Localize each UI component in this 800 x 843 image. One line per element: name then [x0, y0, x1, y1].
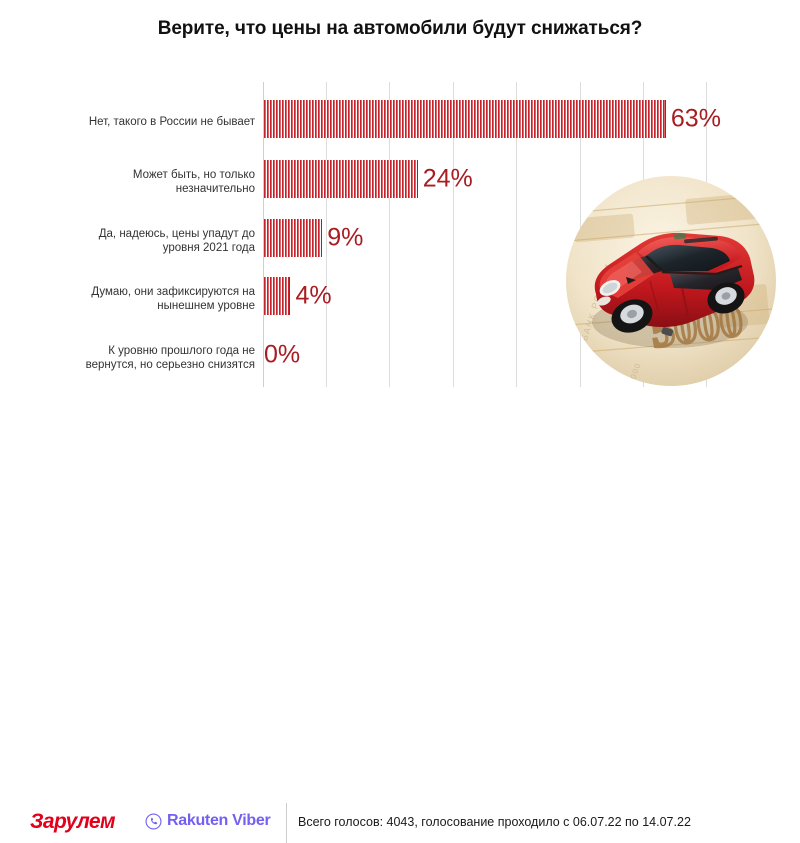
- za-rulem-logo[interactable]: Зарулем: [30, 810, 115, 834]
- rakuten-viber-logo[interactable]: Rakuten Viber: [145, 812, 270, 830]
- bar-value-0: 63%: [671, 105, 721, 134]
- category-label-0: Нет, такого в России не бывает: [5, 115, 255, 129]
- category-label-2-line2: уровня 2021 года: [5, 241, 255, 255]
- poll-meta-note: Всего голосов: 4043, голосование проходи…: [298, 815, 691, 829]
- footer: Зарулем Rakuten Viber Всего голосов: 404…: [0, 398, 800, 450]
- category-label-4-line2: вернутся, но серьезно снизятся: [5, 358, 255, 372]
- bar-value-4: 0%: [264, 341, 300, 370]
- bar-row-0: 63%: [264, 100, 784, 138]
- bar-value-3: 4%: [295, 282, 331, 311]
- bar-2: [264, 219, 322, 257]
- toy-car-on-banknotes-photo: 5000 БАНК РОССИИ 5000: [566, 176, 776, 386]
- category-label-4-line1: К уровню прошлого года не: [5, 344, 255, 358]
- poll-result-infographic: Верите, что цены на автомобили будут сни…: [0, 0, 800, 450]
- rakuten-viber-label: Rakuten Viber: [167, 812, 270, 830]
- viber-phone-icon: [145, 813, 162, 830]
- category-label-3-line2: нынешнем уровне: [5, 299, 255, 313]
- bar-1: [264, 160, 418, 198]
- bar-value-1: 24%: [423, 165, 473, 194]
- category-labels: Нет, такого в России не бывает Может быт…: [0, 82, 255, 387]
- category-label-2-line1: Да, надеюсь, цены упадут до: [5, 227, 255, 241]
- bar-3: [264, 277, 290, 315]
- page-title: Верите, что цены на автомобили будут сни…: [0, 18, 800, 40]
- category-label-1-line1: Может быть, но только: [5, 168, 255, 182]
- bar-value-2: 9%: [327, 224, 363, 253]
- category-label-3-line1: Думаю, они зафиксируются на: [5, 285, 255, 299]
- category-label-1-line2: незначительно: [5, 182, 255, 196]
- footer-divider: [286, 803, 287, 843]
- bar-0: [264, 100, 666, 138]
